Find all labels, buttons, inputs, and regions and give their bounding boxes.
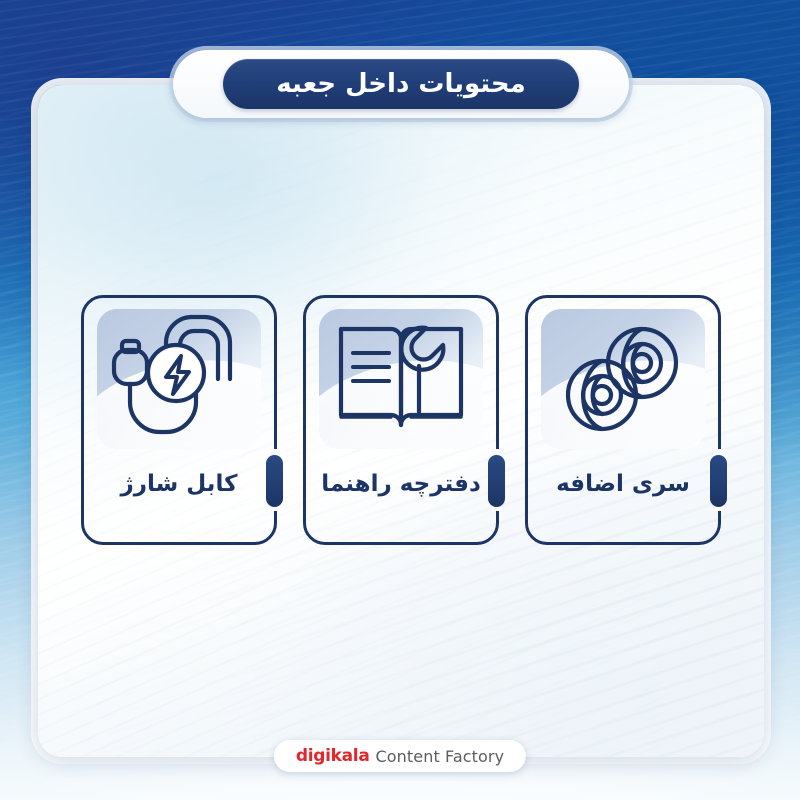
eartips-glyph (541, 309, 705, 449)
page-title: محتویات داخل جعبه (276, 71, 526, 97)
header-pill-outer: محتویات داخل جعبه (173, 50, 629, 118)
contents-card-row: سری اضافه (38, 295, 764, 550)
content-card-charging-cable[interactable]: کابل شارژ (81, 295, 277, 545)
header-pill-inner: محتویات داخل جعبه (223, 59, 579, 109)
charging-cable-icon (97, 309, 261, 449)
eartips-icon (541, 309, 705, 449)
footer-brand-badge: digikala Content Factory (274, 740, 526, 772)
manual-book-wrench-icon (319, 309, 483, 449)
content-card-manual[interactable]: دفترچه راهنما (303, 295, 499, 545)
digikala-logo-text: digikala (296, 746, 370, 766)
card-label: دفترچه راهنما (303, 473, 499, 496)
content-card-eartips[interactable]: سری اضافه (525, 295, 721, 545)
card-label: کابل شارژ (81, 473, 277, 496)
card-label: سری اضافه (525, 473, 721, 496)
charging-cable-glyph (97, 309, 261, 449)
poster-canvas: محتویات داخل جعبه (0, 0, 800, 800)
manual-book-glyph (319, 309, 483, 449)
content-factory-label: Content Factory (376, 747, 505, 766)
